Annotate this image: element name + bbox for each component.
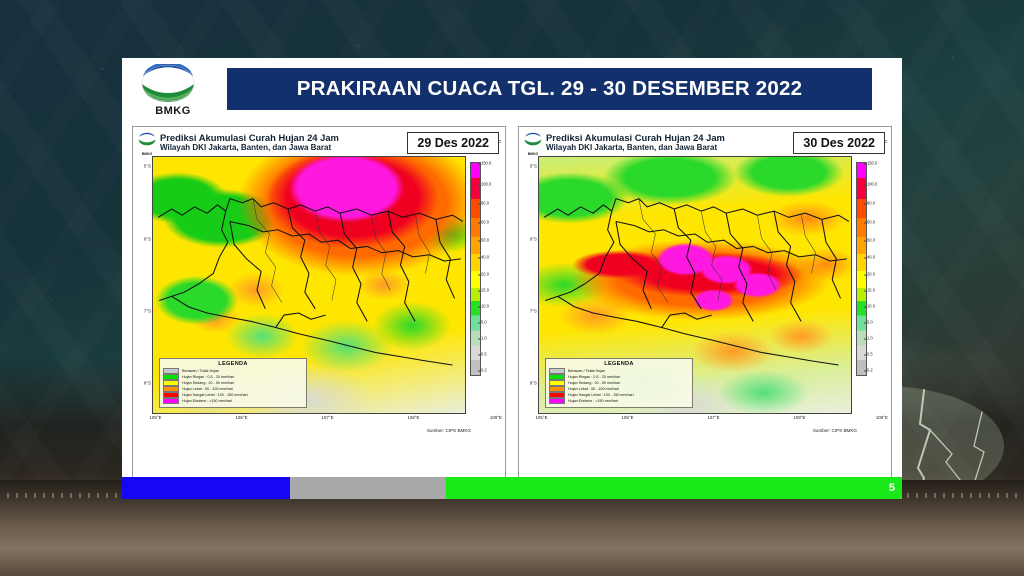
- x-axis: 105°E 106°E 107°E 108°E 109°E: [152, 414, 503, 426]
- x-tick: 105°E: [149, 415, 161, 420]
- panel-bmkg-logo: BMKG: [137, 132, 157, 154]
- y-tick: 5°S: [530, 164, 537, 169]
- legend-item: Hujan Ekstrem : >150 mm/hari: [549, 398, 689, 404]
- map-source: Sumber: CIPS BMKG: [133, 426, 505, 433]
- legend-box: LEGENDA Berawan / Tidak Hujan Hujan Ring…: [545, 358, 693, 408]
- colorbar-tick: 40.0: [867, 255, 875, 260]
- x-tick: 105°E: [535, 415, 547, 420]
- colorbar-area: 150.0 100.0 80.0 60.0 50.0 40.0 20.0 15.…: [855, 156, 889, 414]
- y-axis: 5°S 6°S 7°S 8°S: [521, 156, 538, 414]
- y-tick: 7°S: [144, 308, 151, 313]
- footer-bar: 5: [122, 477, 902, 499]
- panel-titles: Prediksi Akumulasi Curah Hujan 24 Jam Wi…: [546, 132, 810, 153]
- x-tick: 107°E: [321, 415, 333, 420]
- footer-segment-grey: [290, 477, 446, 499]
- x-tick: 109°E: [876, 415, 888, 420]
- bmkg-logo-icon: [524, 132, 542, 147]
- y-tick: 6°S: [530, 236, 537, 241]
- legend-box: LEGENDA Berawan / Tidak Hujan Hujan Ring…: [159, 358, 307, 408]
- y-axis: 5°S 6°S 7°S 8°S: [135, 156, 152, 414]
- panel-title-line2: Wilayah DKI Jakarta, Banten, dan Jawa Ba…: [160, 143, 424, 153]
- colorbar-tick: 60.0: [481, 220, 489, 225]
- colorbar-tick: 0.5: [481, 352, 487, 357]
- slide-title-bar: PRAKIRAAN CUACA TGL. 29 - 30 DESEMBER 20…: [227, 68, 872, 110]
- legend-swatch: [163, 398, 179, 404]
- footer-segment-green: 5: [446, 477, 902, 499]
- panel-titles: Prediksi Akumulasi Curah Hujan 24 Jam Wi…: [160, 132, 424, 153]
- legend-label: Hujan Ekstrem : >150 mm/hari: [568, 398, 618, 404]
- bmkg-logo-icon: [140, 64, 196, 104]
- slide-header: BMKG PRAKIRAAN CUACA TGL. 29 - 30 DESEMB…: [122, 58, 902, 120]
- y-tick: 5°S: [144, 164, 151, 169]
- panel-title-line2: Wilayah DKI Jakarta, Banten, dan Jawa Ba…: [546, 143, 810, 153]
- slide-canvas: BMKG PRAKIRAAN CUACA TGL. 29 - 30 DESEMB…: [122, 58, 902, 492]
- y-tick: 7°S: [530, 308, 537, 313]
- bmkg-logo-label: BMKG: [140, 105, 206, 117]
- bmkg-logo: BMKG: [140, 64, 206, 120]
- colorbar-tick: 80.0: [867, 201, 875, 206]
- x-tick: 108°E: [407, 415, 419, 420]
- x-axis: 105°E 106°E 107°E 108°E 109°E: [538, 414, 889, 426]
- rainfall-heatmap-29-des[interactable]: LEGENDA Berawan / Tidak Hujan Hujan Ring…: [152, 156, 466, 414]
- x-tick: 106°E: [621, 415, 633, 420]
- date-badge: 30 Des 2022: [793, 132, 885, 154]
- colorbar-tick: 5.0: [867, 320, 873, 325]
- colorbar-tick: 0.2: [481, 368, 487, 373]
- page-number: 5: [889, 482, 895, 494]
- colorbar-tick: 100.0: [867, 182, 877, 187]
- colorbar-tick: 100.0: [481, 182, 491, 187]
- legend-title: LEGENDA: [549, 361, 689, 368]
- rainfall-heatmap-30-des[interactable]: LEGENDA Berawan / Tidak Hujan Hujan Ring…: [538, 156, 852, 414]
- map-area: 5°S 6°S 7°S 8°S: [521, 156, 889, 414]
- slide-screenshot: BMKG PRAKIRAAN CUACA TGL. 29 - 30 DESEMB…: [0, 0, 1024, 576]
- colorbar-tick: 0.5: [867, 352, 873, 357]
- map-panels: BMKG Prediksi Akumulasi Curah Hujan 24 J…: [132, 126, 892, 484]
- colorbar-area: 150.0 100.0 80.0 60.0 50.0 40.0 20.0 15.…: [469, 156, 503, 414]
- legend-title: LEGENDA: [163, 361, 303, 368]
- colorbar-tick: 40.0: [481, 255, 489, 260]
- date-badge: 29 Des 2022: [407, 132, 499, 154]
- panel-title-line1: Prediksi Akumulasi Curah Hujan 24 Jam: [546, 132, 810, 143]
- map-area: 5°S 6°S 7°S 8°S: [135, 156, 503, 414]
- page-title: PRAKIRAAN CUACA TGL. 29 - 30 DESEMBER 20…: [297, 77, 802, 101]
- bmkg-logo-icon: [138, 132, 156, 147]
- colorbar-tick: 15.0: [867, 288, 875, 293]
- x-tick: 108°E: [793, 415, 805, 420]
- legend-item: Hujan Ekstrem : >150 mm/hari: [163, 398, 303, 404]
- colorbar-tick: 150.0: [867, 161, 877, 166]
- panel-title-line1: Prediksi Akumulasi Curah Hujan 24 Jam: [160, 132, 424, 143]
- map-source: Sumber: CIPS BMKG: [519, 426, 891, 433]
- colorbar-tick: 20.0: [481, 272, 489, 277]
- colorbar-tick: 1.0: [867, 336, 873, 341]
- x-tick: 107°E: [707, 415, 719, 420]
- colorbar-tick: 80.0: [481, 201, 489, 206]
- colorbar-tick: 60.0: [867, 220, 875, 225]
- legend-swatch: [549, 398, 565, 404]
- colorbar-tick: 50.0: [867, 238, 875, 243]
- colorbar-tick: 5.0: [481, 320, 487, 325]
- colorbar: [470, 162, 481, 376]
- colorbar-tick: 20.0: [867, 272, 875, 277]
- colorbar: [856, 162, 867, 376]
- colorbar-tick: 150.0: [481, 161, 491, 166]
- legend-label: Hujan Ekstrem : >150 mm/hari: [182, 398, 232, 404]
- footer-segment-blue: [122, 477, 290, 499]
- x-tick: 109°E: [490, 415, 502, 420]
- colorbar-tick: 10.0: [481, 304, 489, 309]
- map-panel-29-des[interactable]: BMKG Prediksi Akumulasi Curah Hujan 24 J…: [132, 126, 506, 484]
- colorbar-tick: 50.0: [481, 238, 489, 243]
- y-tick: 8°S: [530, 381, 537, 386]
- x-tick: 106°E: [235, 415, 247, 420]
- y-tick: 8°S: [144, 381, 151, 386]
- y-tick: 6°S: [144, 236, 151, 241]
- colorbar-tick: 15.0: [481, 288, 489, 293]
- colorbar-tick: 10.0: [867, 304, 875, 309]
- colorbar-tick: 0.2: [867, 368, 873, 373]
- map-panel-30-des[interactable]: BMKG Prediksi Akumulasi Curah Hujan 24 J…: [518, 126, 892, 484]
- colorbar-tick: 1.0: [481, 336, 487, 341]
- panel-bmkg-logo: BMKG: [523, 132, 543, 154]
